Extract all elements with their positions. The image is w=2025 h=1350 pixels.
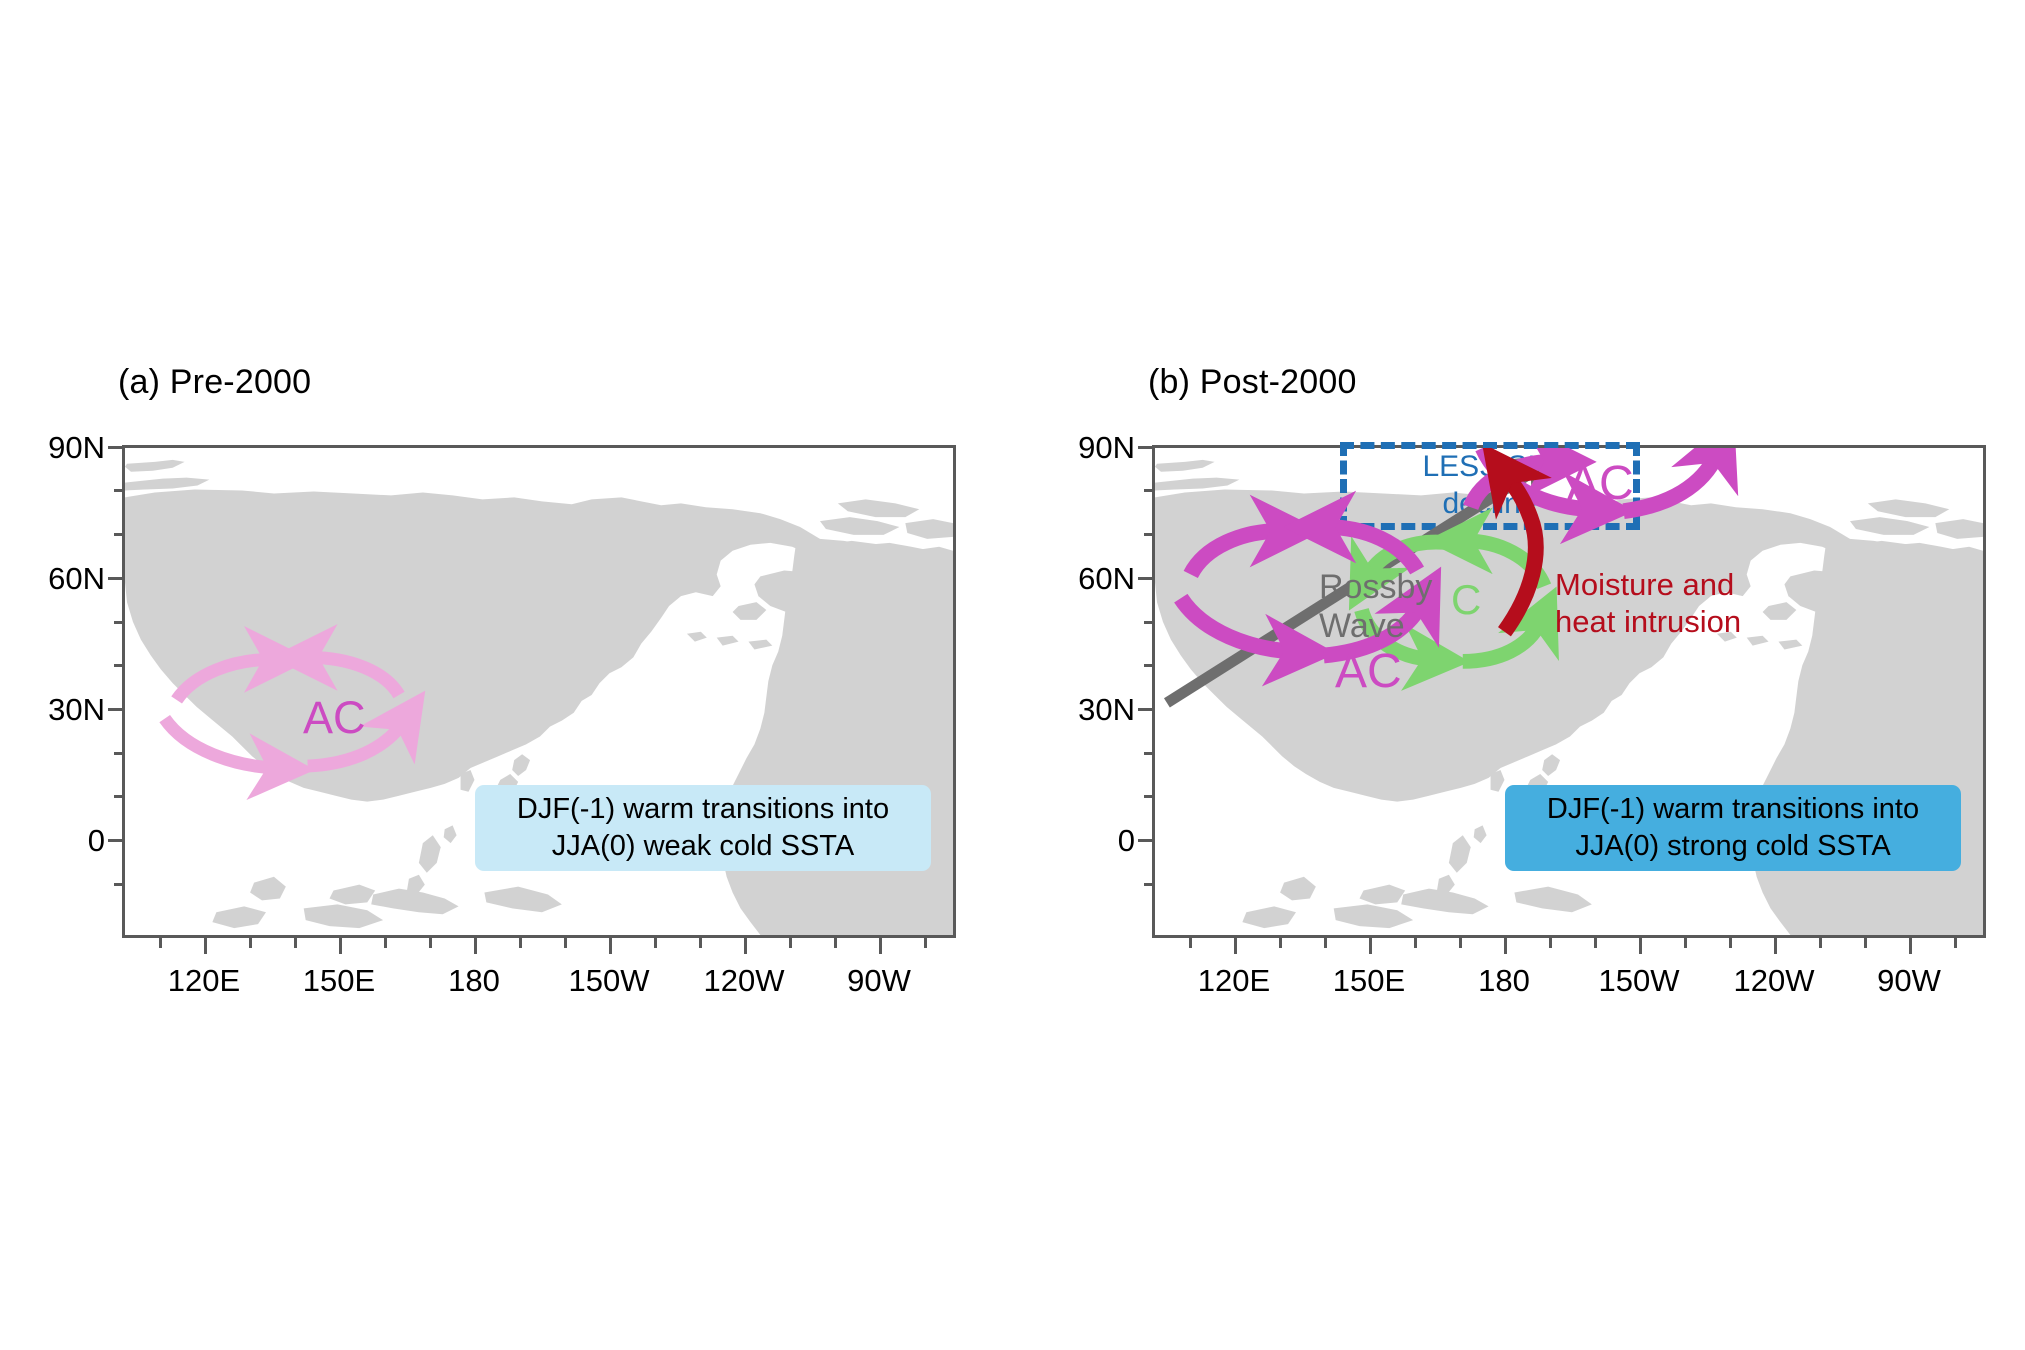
panel-b-anticyclone-label-low: AC [1335,644,1402,699]
panel-b-xtick-minor-11 [1864,938,1867,948]
panel-b-xtick-major-180 [1504,938,1507,954]
panel-b-rossby-line2: Wave [1319,607,1432,646]
panel-b-ytick-minor-m10 [1144,883,1153,886]
panel-b-xtick-minor-8 [1684,938,1687,948]
panel-b-xtick-minor-7 [1594,938,1597,948]
panel-b-xtick-150W: 150W [1574,963,1704,999]
panel-b-xtick-major-120W [1774,938,1777,954]
panel-b-cyclone-label: C [1451,576,1481,624]
panel-b-ytick-major-30 [1138,708,1153,711]
panel-b-ytick-90N: 90N [1030,430,1135,466]
panel-b-xtick-120W: 120W [1709,963,1839,999]
panel-b-rossby-wave-label: Rossby Wave [1319,568,1432,646]
panel-b-sic-line1: LESS SIC [1422,449,1557,486]
panel-b-ytick-minor-20 [1144,752,1153,755]
panel-b-ytick-60N: 60N [1030,561,1135,597]
panel-b-callout-line1: DJF(-1) warm transitions into [1547,791,1919,828]
panel-b-xtick-180: 180 [1439,963,1569,999]
panel-b-ytick-minor-70 [1144,533,1153,536]
panel-b-xtick-major-150E [1369,938,1372,954]
panel-b-sic-line2: decline [1442,486,1537,523]
panel-b-xtick-150E: 150E [1304,963,1434,999]
panel-b-xtick-minor-5 [1459,938,1462,948]
panel-b-callout: DJF(-1) warm transitions into JJA(0) str… [1505,785,1961,871]
panel-b-ytick-major-60 [1138,577,1153,580]
panel-b-xtick-minor-4 [1414,938,1417,948]
panel-b-xtick-minor-12 [1954,938,1957,948]
panel-b-ytick-minor-80 [1144,489,1153,492]
panel-b-xtick-minor-9 [1729,938,1732,948]
panel-b-xtick-minor-6 [1549,938,1552,948]
panel-b-xtick-90W: 90W [1844,963,1974,999]
panel-b: (b) Post-2000 90N 60N 30N 0 120E 150E 18… [0,0,2025,1350]
panel-b-map: LESS SIC decline [1152,445,1986,938]
panel-b-xtick-major-120E [1234,938,1237,954]
panel-b-xtick-minor-2 [1279,938,1282,948]
panel-b-ytick-minor-10 [1144,795,1153,798]
panel-b-ytick-30N: 30N [1030,692,1135,728]
panel-b-callout-line2: JJA(0) strong cold SSTA [1575,828,1890,865]
panel-b-anticyclone-label-high: AC [1567,456,1634,511]
panel-b-ytick-0: 0 [1030,823,1135,859]
panel-b-moisture-line1: Moisture and [1555,566,1741,603]
panel-b-xtick-major-90W [1909,938,1912,954]
panel-b-rossby-line1: Rossby [1319,568,1432,607]
panel-b-xtick-minor-1 [1189,938,1192,948]
panel-b-xtick-120E: 120E [1169,963,1299,999]
panel-b-moisture-heat-label: Moisture and heat intrusion [1555,566,1741,640]
panel-b-ytick-minor-50 [1144,621,1153,624]
panel-b-xtick-major-150W [1639,938,1642,954]
panel-b-ytick-major-90 [1138,446,1153,449]
panel-b-ytick-major-0 [1138,839,1153,842]
panel-b-ytick-minor-40 [1144,664,1153,667]
panel-b-title: (b) Post-2000 [1148,363,1357,402]
panel-b-xtick-minor-10 [1819,938,1822,948]
panel-b-xtick-minor-3 [1324,938,1327,948]
panel-b-moisture-line2: heat intrusion [1555,603,1741,640]
